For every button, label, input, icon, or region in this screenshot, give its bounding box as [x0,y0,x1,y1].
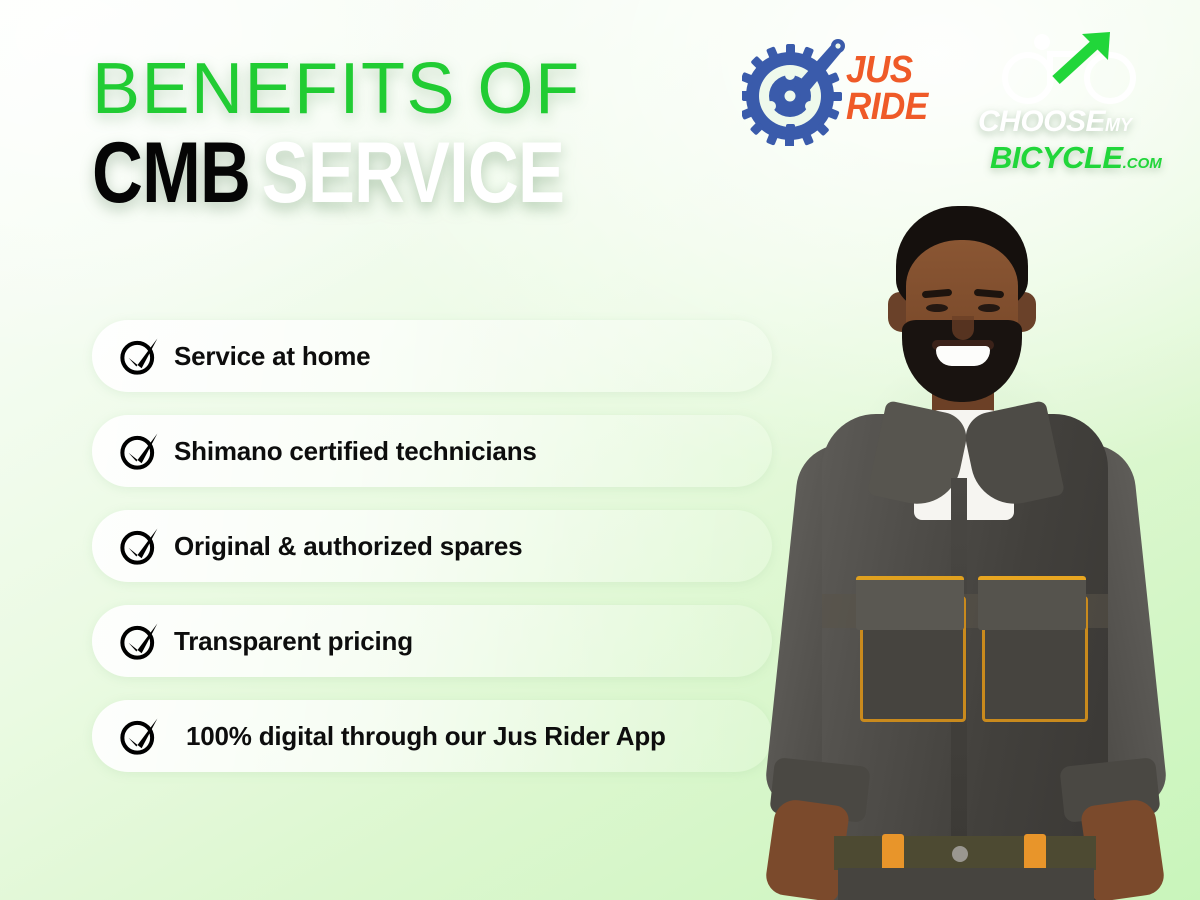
benefit-label: Transparent pricing [174,626,413,657]
technician-trousers [838,868,1094,900]
headline-line-1: BENEFITS OF [92,52,772,126]
technician-nose [952,316,974,340]
cmb-word-bicycle: BICYCLE [990,140,1123,175]
benefit-label: 100% digital through our Jus Rider App [186,721,666,752]
circled-check-icon [118,335,160,377]
jusride-wordmark: JUS RIDE [846,52,928,126]
benefit-pill-5[interactable]: 100% digital through our Jus Rider App [92,700,772,772]
benefit-pill-4[interactable]: Transparent pricing [92,605,772,677]
cmb-wordmark-row-1: CHOOSEMY [978,106,1178,141]
circled-check-icon [118,715,160,757]
jusride-word-1: JUS [846,52,928,89]
circled-check-icon [118,620,160,662]
cmb-word-my: MY [1105,115,1132,135]
choosemybicycle-logo[interactable]: CHOOSEMY BICYCLE.COM [978,28,1178,158]
jusride-logo[interactable]: JUS RIDE [742,30,942,150]
benefit-pill-3[interactable]: Original & authorized spares [92,510,772,582]
headline-word-service: SERVICE [262,125,565,221]
benefit-label: Service at home [174,341,370,372]
benefit-label: Shimano certified technicians [174,436,537,467]
jusride-word-2: RIDE [846,89,928,126]
cmb-word-choose: CHOOSE [978,105,1105,138]
technician-eye-right [978,304,1000,312]
technician-eye-left [926,304,948,312]
technician-smile [936,346,990,366]
headline-brand-cmb: CMB [92,125,250,221]
circled-check-icon [118,525,160,567]
benefit-label: Original & authorized spares [174,531,522,562]
headline-block: BENEFITS OF CMBSERVICE [92,52,772,218]
bicycle-arrow-icon [992,28,1162,106]
technician-pocket-flap-right [978,576,1086,630]
choosemybicycle-wordmark: CHOOSEMY BICYCLE.COM [978,106,1178,180]
poster-canvas: BENEFITS OF CMBSERVICE [0,0,1200,900]
technician-pocket-flap-left [856,576,964,630]
benefit-pill-2[interactable]: Shimano certified technicians [92,415,772,487]
technician-photo [726,196,1200,900]
technician-belt-rivet [952,846,968,862]
circled-check-icon [118,430,160,472]
cmb-word-dotcom: .COM [1123,155,1162,172]
benefits-list: Service at home Shimano certified techni… [92,320,772,795]
chainring-crank-icon [742,34,846,146]
cmb-wordmark-row-2: BICYCLE.COM [990,141,1178,180]
benefit-pill-1[interactable]: Service at home [92,320,772,392]
headline-line-2: CMBSERVICE [92,128,650,218]
